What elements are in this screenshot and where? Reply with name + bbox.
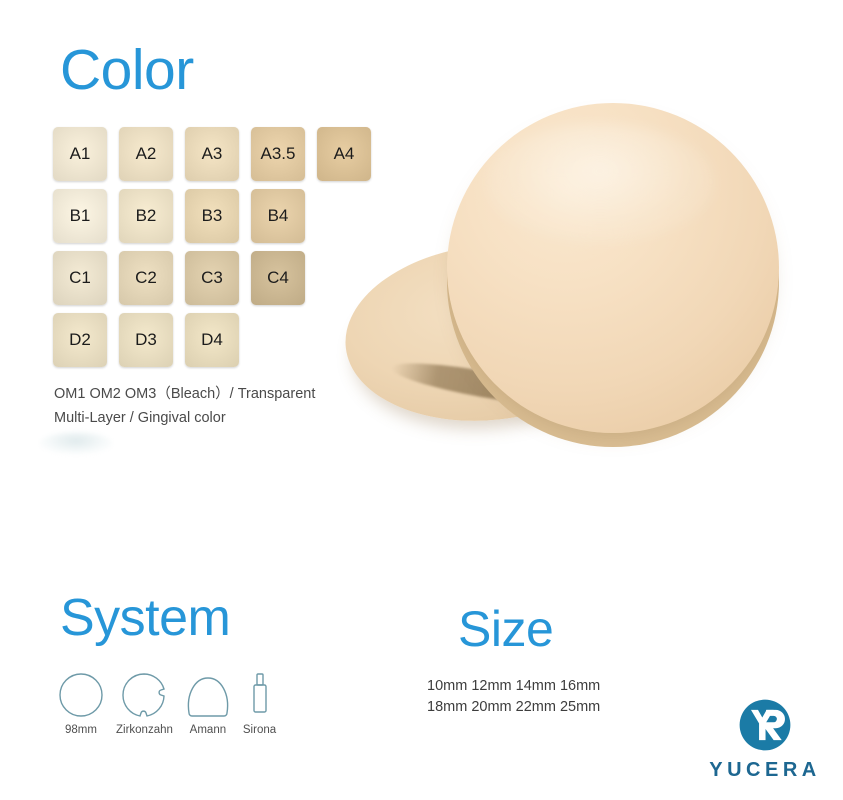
brand-logo: YUCERA — [700, 698, 830, 782]
color-swatch-c4[interactable]: C4 — [251, 251, 305, 305]
page-title-color: Color — [60, 42, 194, 99]
disc-dome-icon — [185, 668, 231, 718]
color-note-line: Multi-Layer / Gingival color — [54, 407, 315, 431]
system-item-label: Amann — [190, 724, 226, 736]
color-swatch-a3-5[interactable]: A3.5 — [251, 127, 305, 181]
system-item-label: Sirona — [243, 724, 276, 736]
system-item-label: 98mm — [65, 724, 97, 736]
color-swatch-b1[interactable]: B1 — [53, 189, 107, 243]
page-title-system: System — [60, 592, 230, 644]
color-swatch-d2[interactable]: D2 — [53, 313, 107, 367]
disc-notched-icon — [121, 668, 167, 718]
size-list: 10mm 12mm 14mm 16mm18mm 20mm 22mm 25mm — [427, 676, 600, 718]
disc-highlight — [485, 123, 715, 243]
disc-circle-icon — [58, 668, 104, 718]
product-photo-discs — [335, 95, 785, 465]
system-compatibility-list: 98mmZirkonzahnAmannSirona — [58, 668, 288, 736]
yucera-monogram-icon — [738, 698, 792, 752]
color-swatch-c2[interactable]: C2 — [119, 251, 173, 305]
color-note-line: OM1 OM2 OM3（Bleach）/ Transparent — [54, 383, 315, 407]
system-item-98mm[interactable]: 98mm — [58, 668, 104, 736]
size-line: 10mm 12mm 14mm 16mm — [427, 676, 600, 697]
color-swatch-a3[interactable]: A3 — [185, 127, 239, 181]
color-swatch-b4[interactable]: B4 — [251, 189, 305, 243]
color-swatch-d4[interactable]: D4 — [185, 313, 239, 367]
color-swatch-b2[interactable]: B2 — [119, 189, 173, 243]
system-item-label: Zirkonzahn — [116, 724, 173, 736]
system-item-zirkonzahn[interactable]: Zirkonzahn — [116, 668, 173, 736]
color-swatch-b3[interactable]: B3 — [185, 189, 239, 243]
system-item-amann[interactable]: Amann — [185, 668, 231, 736]
color-notes: OM1 OM2 OM3（Bleach）/ TransparentMulti-La… — [54, 383, 315, 431]
color-swatch-a1[interactable]: A1 — [53, 127, 107, 181]
watermark-blob — [40, 432, 112, 454]
page-title-size: Size — [458, 604, 553, 654]
block-mandrel-icon — [250, 668, 270, 718]
color-swatch-c3[interactable]: C3 — [185, 251, 239, 305]
color-swatch-a2[interactable]: A2 — [119, 127, 173, 181]
color-swatch-d3[interactable]: D3 — [119, 313, 173, 367]
size-line: 18mm 20mm 22mm 25mm — [427, 697, 600, 718]
color-swatch-c1[interactable]: C1 — [53, 251, 107, 305]
brand-wordmark: YUCERA — [709, 759, 820, 782]
system-item-sirona[interactable]: Sirona — [243, 668, 276, 736]
